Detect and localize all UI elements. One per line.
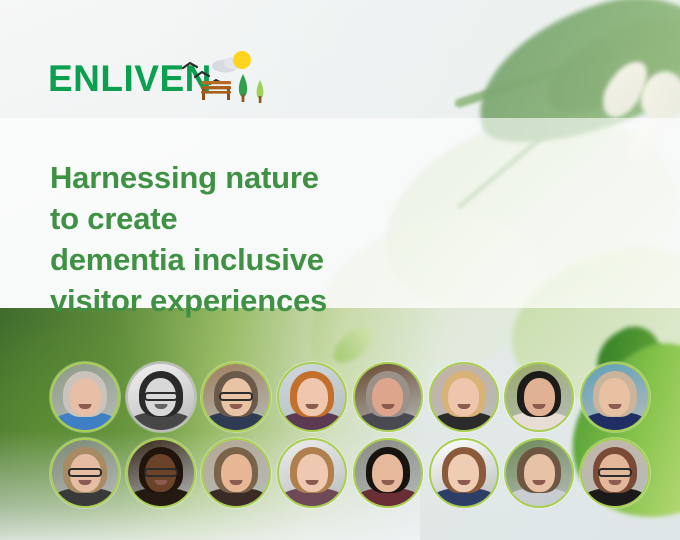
- enliven-banner: ENLIVEN: [0, 0, 680, 540]
- avatar-8[interactable]: [580, 362, 650, 432]
- avatar-face: [524, 454, 555, 492]
- headline-line-2: to create: [50, 198, 450, 239]
- avatar-face: [599, 378, 630, 416]
- avatar-13[interactable]: [353, 438, 423, 508]
- avatar-glasses: [219, 392, 253, 401]
- avatar-face: [448, 454, 479, 492]
- avatar-14[interactable]: [429, 438, 499, 508]
- avatar-face: [297, 454, 328, 492]
- avatar-5[interactable]: [353, 362, 423, 432]
- avatar-15[interactable]: [504, 438, 574, 508]
- avatar-face: [448, 378, 479, 416]
- headline-line-3: dementia inclusive: [50, 239, 450, 280]
- tree-dark-icon: [239, 74, 247, 102]
- park-bench-icon: [201, 81, 231, 100]
- headline-line-4: visitor experiences: [50, 280, 450, 321]
- avatar-3[interactable]: [201, 362, 271, 432]
- logo-scene-art: [181, 48, 273, 104]
- page-title: Harnessing nature to create dementia inc…: [50, 157, 450, 321]
- avatar-row-1: [50, 362, 650, 432]
- avatar-7[interactable]: [504, 362, 574, 432]
- avatar-9[interactable]: [50, 438, 120, 508]
- avatar-face: [524, 378, 555, 416]
- avatar-face: [221, 454, 252, 492]
- avatar-face: [297, 378, 328, 416]
- avatar-16[interactable]: [580, 438, 650, 508]
- avatar-4[interactable]: [277, 362, 347, 432]
- avatar-glasses: [598, 468, 632, 477]
- avatar-glasses: [68, 468, 102, 477]
- enliven-logo[interactable]: ENLIVEN: [48, 48, 248, 106]
- avatar-12[interactable]: [277, 438, 347, 508]
- avatar-6[interactable]: [429, 362, 499, 432]
- headline-line-1: Harnessing nature: [50, 157, 450, 198]
- avatar-glasses: [144, 468, 178, 477]
- avatar-glasses: [144, 392, 178, 401]
- avatar-2[interactable]: [126, 362, 196, 432]
- avatar-10[interactable]: [126, 438, 196, 508]
- avatar-row-2: [50, 438, 650, 508]
- tree-light-icon: [257, 80, 264, 103]
- avatar-1[interactable]: [50, 362, 120, 432]
- sun-icon: [233, 51, 251, 69]
- avatar-face: [372, 378, 403, 416]
- avatar-face: [70, 378, 101, 416]
- avatar-face: [372, 454, 403, 492]
- avatar-11[interactable]: [201, 438, 271, 508]
